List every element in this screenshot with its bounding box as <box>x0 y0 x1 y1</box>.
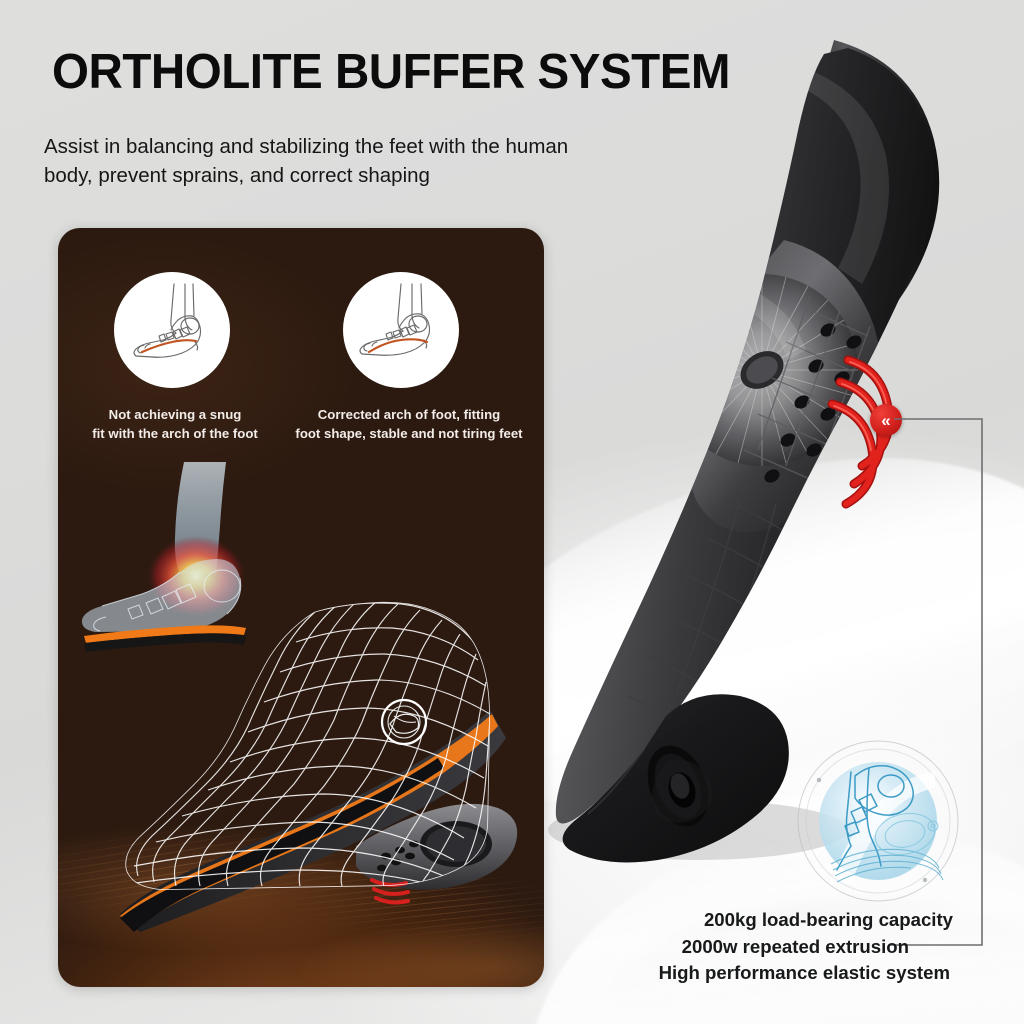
foot-diagram-corrected-arch <box>343 272 459 388</box>
spec-callout-text: 200kg load-bearing capacity 2000w repeat… <box>600 907 956 987</box>
spec-line-1: 200kg load-bearing capacity <box>600 907 956 934</box>
caption-corrected-arch: Corrected arch of foot, fitting foot sha… <box>284 406 534 443</box>
feature-panel: Not achieving a snug fit with the arch o… <box>58 228 544 987</box>
product-infographic: ORTHOLITE BUFFER SYSTEM Assist in balanc… <box>0 0 1024 1024</box>
caption-flat-line-1: Not achieving a snug <box>80 406 270 425</box>
caption-corrected-line-2: foot shape, stable and not tiring feet <box>284 425 534 444</box>
spec-line-3: High performance elastic system <box>600 960 956 987</box>
caption-flat-arch: Not achieving a snug fit with the arch o… <box>80 406 270 443</box>
wireframe-insole-illustration <box>86 598 544 987</box>
ankle-scan-hud-graphic <box>793 738 963 904</box>
caption-corrected-line-1: Corrected arch of foot, fitting <box>284 406 534 425</box>
foot-diagram-flat-arch <box>114 272 230 388</box>
spec-line-2: 2000w repeated extrusion <box>600 934 956 961</box>
caption-flat-line-2: fit with the arch of the foot <box>80 425 270 444</box>
